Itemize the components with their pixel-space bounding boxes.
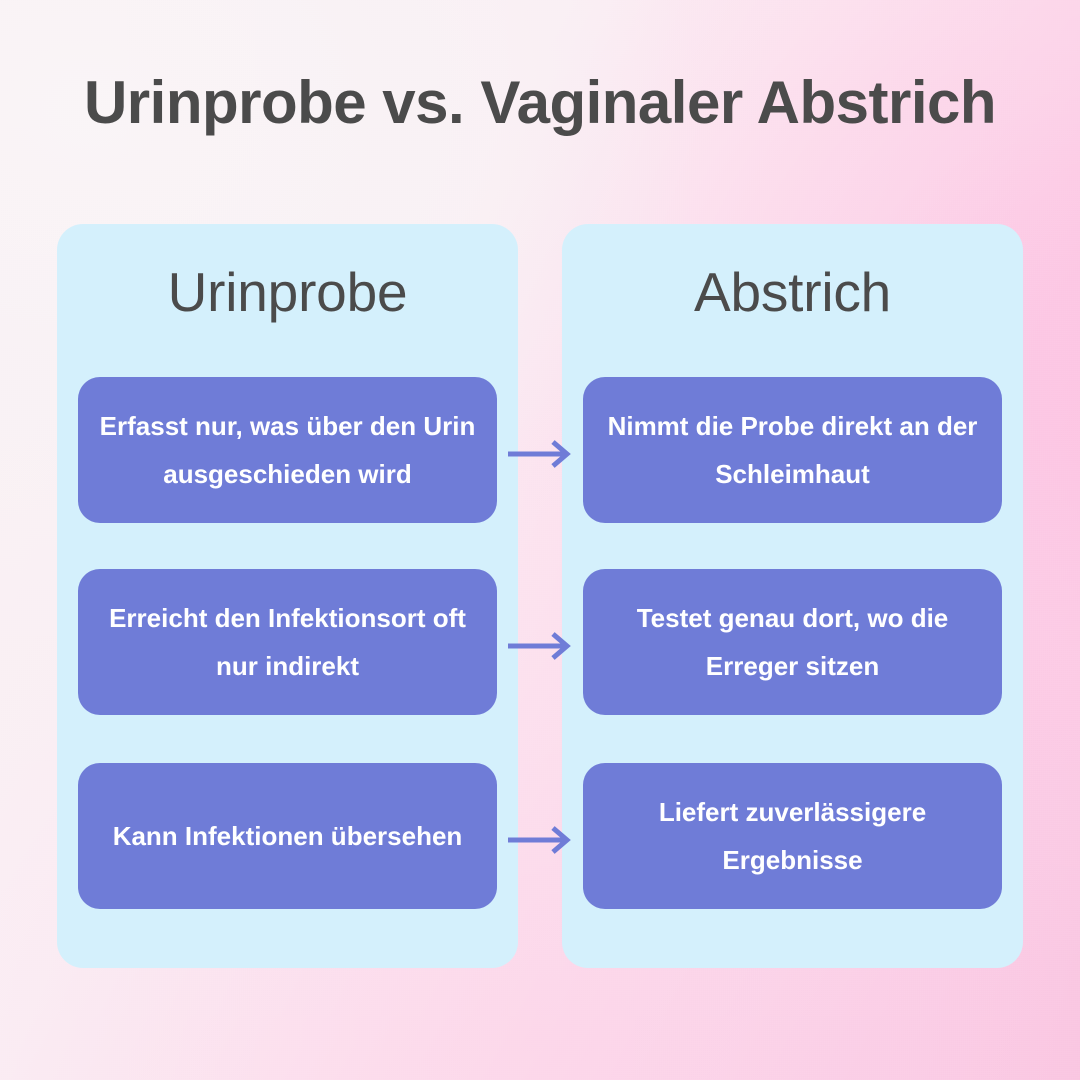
arrow-right-icon bbox=[506, 437, 574, 471]
card-abstrich-1: Nimmt die Probe direkt an der Schleimhau… bbox=[583, 377, 1002, 523]
column-heading-abstrich: Abstrich bbox=[562, 260, 1023, 324]
column-heading-urinprobe: Urinprobe bbox=[57, 260, 518, 324]
card-abstrich-2: Testet genau dort, wo die Erreger sitzen bbox=[583, 569, 1002, 715]
card-urinprobe-2: Erreicht den Infektionsort oft nur indir… bbox=[78, 569, 497, 715]
infographic-canvas: Urinprobe vs. Vaginaler Abstrich Urinpro… bbox=[0, 0, 1080, 1080]
column-panel-abstrich: Abstrich Nimmt die Probe direkt an der S… bbox=[562, 224, 1023, 968]
arrow-right-icon bbox=[506, 823, 574, 857]
column-panel-urinprobe: Urinprobe Erfasst nur, was über den Urin… bbox=[57, 224, 518, 968]
card-text: Erfasst nur, was über den Urin ausgeschi… bbox=[92, 402, 483, 498]
page-title: Urinprobe vs. Vaginaler Abstrich bbox=[0, 68, 1080, 137]
card-text: Erreicht den Infektionsort oft nur indir… bbox=[92, 594, 483, 690]
arrow-right-icon bbox=[506, 629, 574, 663]
card-abstrich-3: Liefert zuverlässigere Ergebnisse bbox=[583, 763, 1002, 909]
card-text: Liefert zuverlässigere Ergebnisse bbox=[597, 788, 988, 884]
card-text: Testet genau dort, wo die Erreger sitzen bbox=[597, 594, 988, 690]
card-text: Kann Infektionen übersehen bbox=[113, 812, 463, 860]
card-text: Nimmt die Probe direkt an der Schleimhau… bbox=[597, 402, 988, 498]
card-urinprobe-3: Kann Infektionen übersehen bbox=[78, 763, 497, 909]
card-urinprobe-1: Erfasst nur, was über den Urin ausgeschi… bbox=[78, 377, 497, 523]
